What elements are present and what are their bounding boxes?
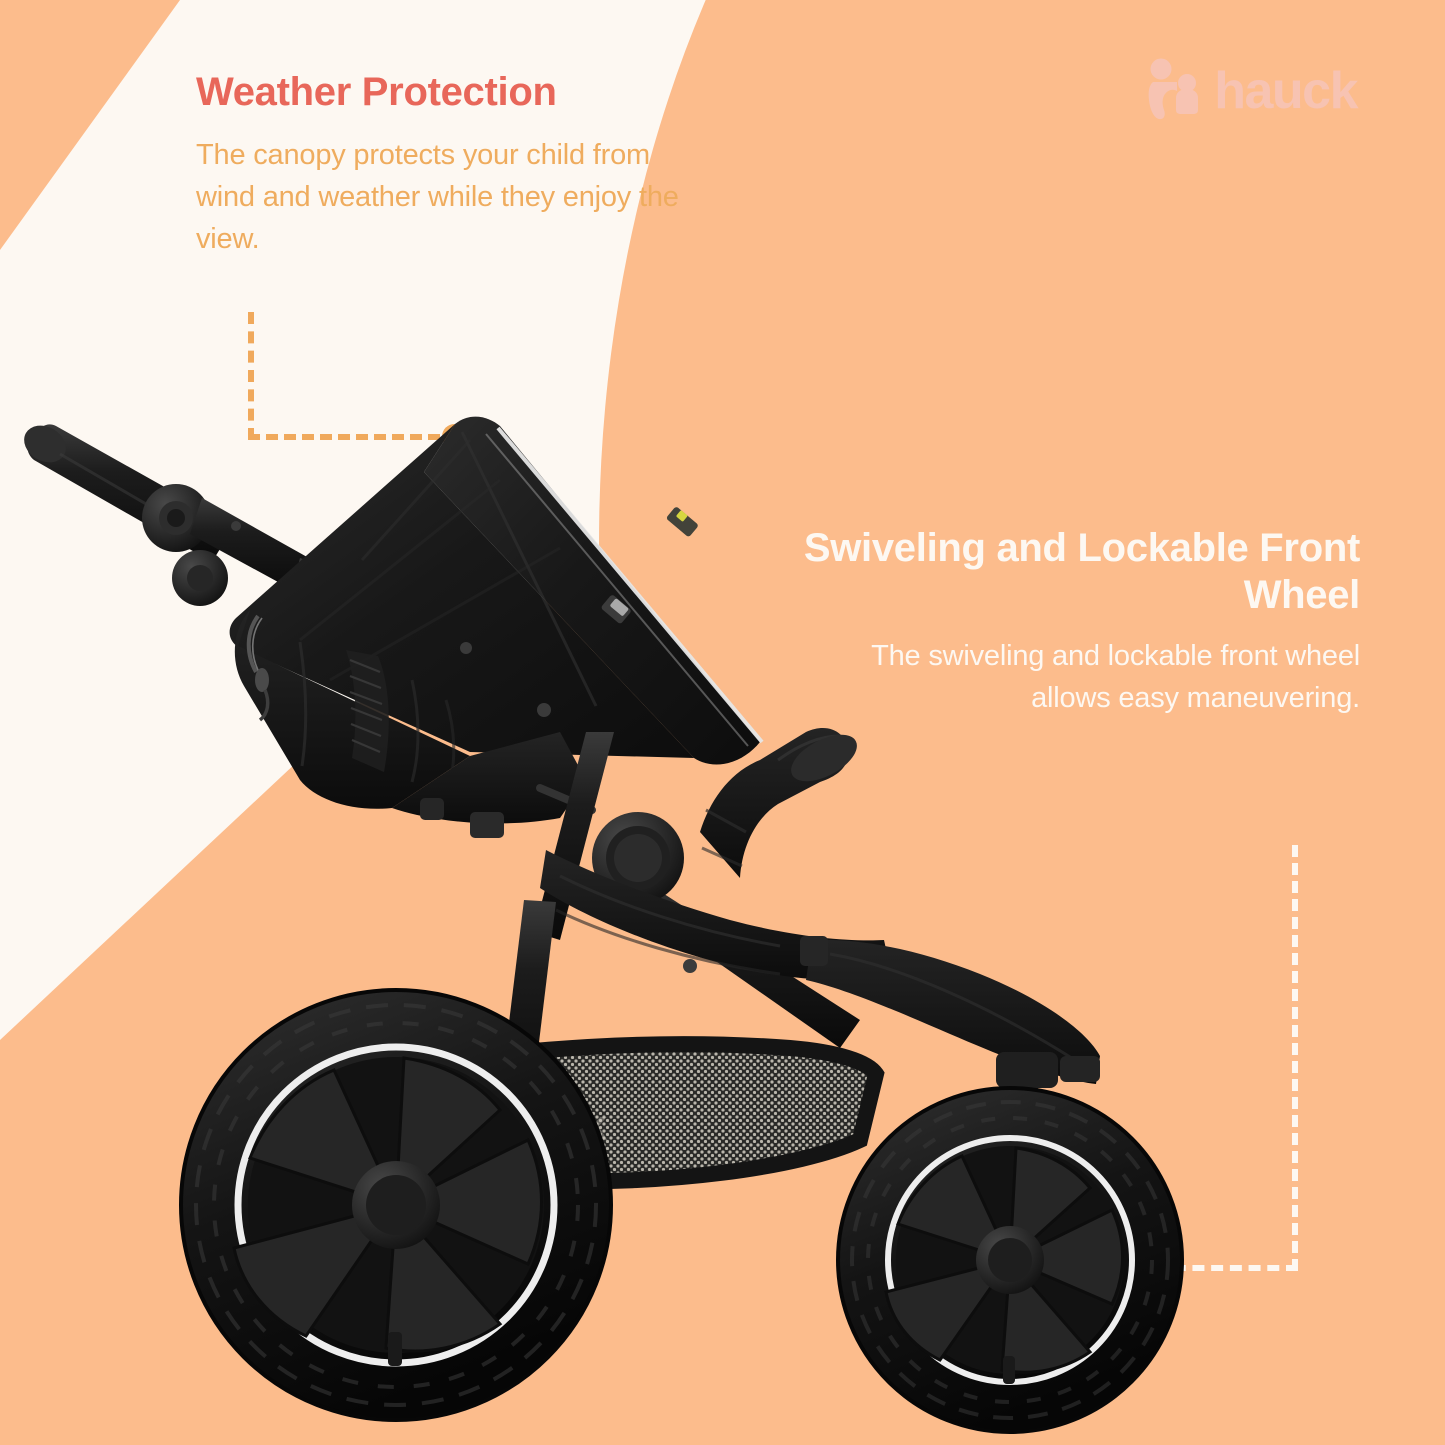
front-wheel bbox=[838, 1052, 1182, 1432]
parent-and-child-icon bbox=[1146, 58, 1204, 120]
rear-valve-stem bbox=[388, 1332, 402, 1366]
brand-logo: hauck bbox=[1146, 58, 1357, 120]
canopy-warning-tag bbox=[666, 506, 699, 538]
feature-body-weather-protection: The canopy protects your child from wind… bbox=[196, 134, 716, 260]
brand-wordmark: hauck bbox=[1214, 65, 1357, 117]
background-shape-top-left bbox=[0, 0, 180, 250]
product-photo-stroller: hauck bbox=[0, 380, 1200, 1440]
rear-wheel bbox=[181, 990, 611, 1420]
callout-line-wheel-vertical bbox=[1292, 845, 1298, 1271]
front-valve-stem bbox=[1003, 1356, 1015, 1384]
infographic-canvas: hauck Weather Protection The canopy prot… bbox=[0, 0, 1445, 1445]
feature-block-weather-protection: Weather Protection The canopy protects y… bbox=[196, 70, 716, 260]
feature-title-weather-protection: Weather Protection bbox=[196, 70, 716, 114]
